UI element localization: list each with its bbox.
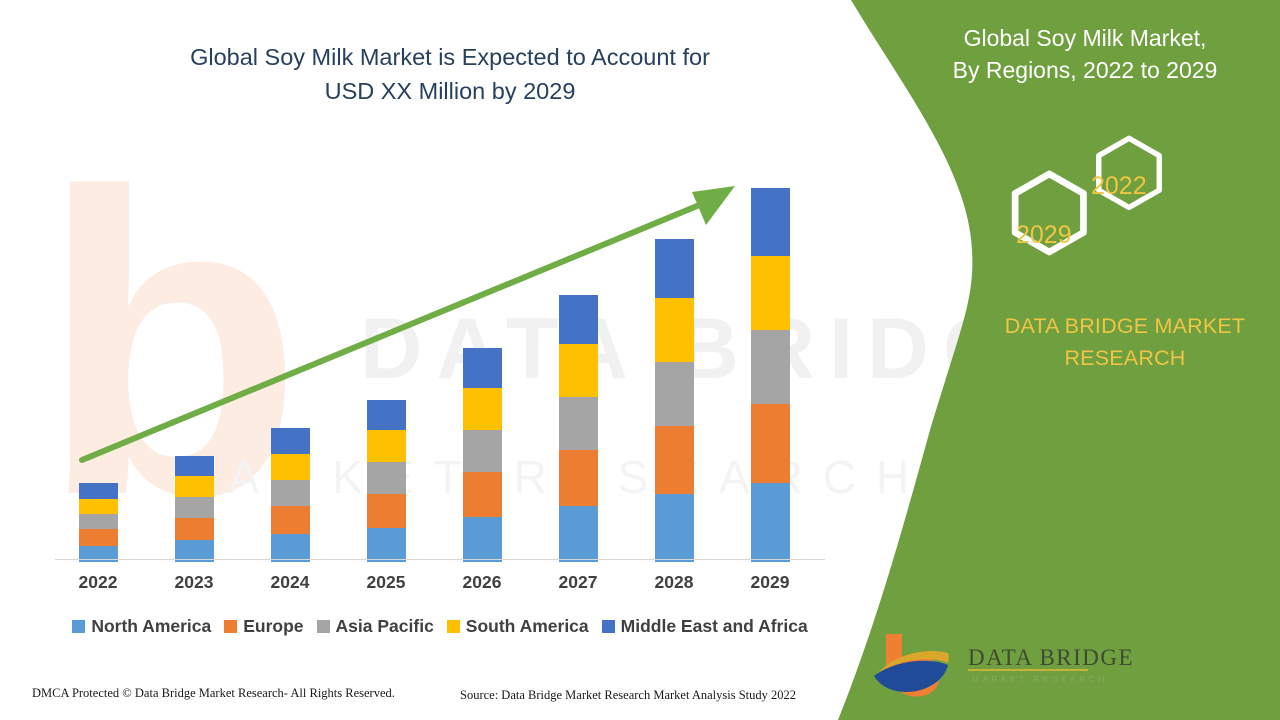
footer-copyright: DMCA Protected © Data Bridge Market Rese… <box>32 686 395 701</box>
brand-name-line2: RESEARCH <box>965 342 1280 374</box>
legend-swatch-icon <box>224 620 237 633</box>
legend-item: Middle East and Africa <box>602 616 808 637</box>
legend-item: Asia Pacific <box>317 616 434 637</box>
legend-label: North America <box>91 616 211 637</box>
legend-label: Asia Pacific <box>336 616 434 637</box>
legend-label: Middle East and Africa <box>621 616 808 637</box>
hexagon-badges <box>975 130 1195 290</box>
brand-name: DATA BRIDGE MARKET RESEARCH <box>965 310 1280 374</box>
logo-tagline: MARKET RESEARCH <box>972 674 1108 684</box>
infographic-canvas: b DATA BRIDGE MARKET RESEARCH Global Soy… <box>0 0 1280 720</box>
legend-swatch-icon <box>602 620 615 633</box>
hex-2022-label: 2022 <box>1091 172 1147 201</box>
footer-source: Source: Data Bridge Market Research Mark… <box>460 688 796 703</box>
legend-swatch-icon <box>317 620 330 633</box>
brand-name-line1: DATA BRIDGE MARKET <box>965 310 1280 342</box>
growth-trend-arrow-icon <box>0 0 860 620</box>
legend-label: Europe <box>243 616 303 637</box>
panel-title: Global Soy Milk Market, By Regions, 2022… <box>905 22 1265 86</box>
hex-2029-label: 2029 <box>1016 221 1072 250</box>
legend-label: South America <box>466 616 589 637</box>
panel-title-line2: By Regions, 2022 to 2029 <box>905 54 1265 86</box>
chart-legend: North AmericaEuropeAsia PacificSouth Ame… <box>50 616 830 637</box>
legend-item: South America <box>447 616 589 637</box>
legend-swatch-icon <box>72 620 85 633</box>
logo-wordmark: DATA BRIDGE <box>968 645 1134 671</box>
legend-swatch-icon <box>447 620 460 633</box>
legend-item: Europe <box>224 616 303 637</box>
panel-title-line1: Global Soy Milk Market, <box>905 22 1265 54</box>
legend-item: North America <box>72 616 211 637</box>
